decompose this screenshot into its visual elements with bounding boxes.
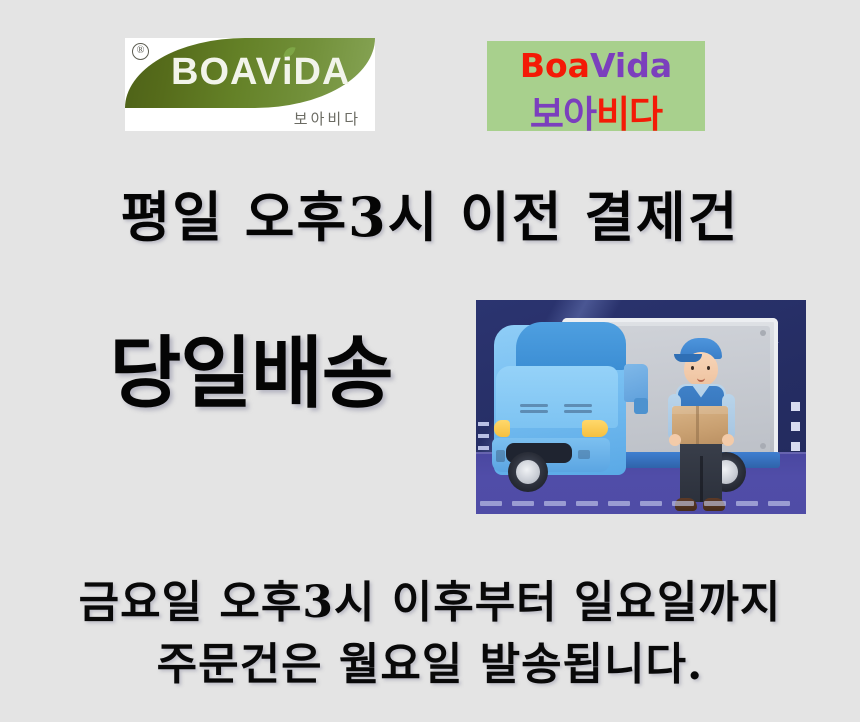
courier-figure (666, 338, 736, 514)
logo-row: ® BOAViDA 보아비다 BoaVida 보아비다 (0, 0, 860, 150)
footer-line-2: 주문건은 월요일 발송됩니다. (0, 634, 860, 696)
delivery-truck-courier-illustration: ✦ (476, 300, 806, 514)
latin-vida: Vida (590, 46, 672, 85)
road-dash (736, 501, 758, 506)
korean-boa: 보아 (530, 93, 596, 131)
parcel-tape (696, 406, 699, 444)
road-dash (576, 501, 598, 506)
courier-leg-split (700, 456, 703, 502)
courier-eye-left (691, 366, 694, 370)
truck-hood (496, 366, 618, 428)
truck-side-vent (496, 450, 505, 462)
road-dash (608, 501, 630, 506)
road-dash (672, 501, 694, 506)
boavida-korean-wordmark-2: 보아비다 (487, 84, 705, 131)
truck-side-window (624, 364, 648, 402)
truck-side-mirror (634, 398, 648, 414)
boavida-green-box-logo: BoaVida 보아비다 (487, 41, 705, 131)
footer-line-1: 금요일 오후3시 이후부터 일요일까지 (0, 572, 860, 634)
headline-text: 평일 오후3시 이전 결제건 (0, 180, 860, 254)
wordmark-prefix: BOAV (171, 51, 282, 93)
backdrop-square-icon (791, 422, 800, 431)
road-dash (768, 501, 790, 506)
backdrop-bar-icon (478, 422, 489, 426)
footer-text: 금요일 오후3시 이후부터 일요일까지 주문건은 월요일 발송됩니다. (0, 572, 860, 696)
backdrop-bar-icon (478, 434, 489, 438)
truck-headlight-right (582, 420, 608, 437)
boavida-korean-wordmark: 보아비다 (294, 108, 361, 129)
road-dash (544, 501, 566, 506)
courier-cap-brim (674, 354, 702, 362)
backdrop-square-icon (791, 442, 800, 451)
truck-vent-line (564, 410, 592, 413)
latin-boa: Boa (520, 46, 590, 85)
road-dash (480, 501, 502, 506)
boavida-latin-wordmark: BoaVida (487, 46, 705, 85)
big-title-text: 당일배송 (46, 322, 456, 426)
truck-headlight-left (494, 420, 510, 437)
courier-eye-right (707, 366, 710, 370)
wordmark-i-with-leaf: i (282, 48, 294, 96)
road-dash (512, 501, 534, 506)
parcel-lid (672, 406, 728, 414)
trailer-bolt-icon (760, 330, 766, 336)
wordmark-suffix: DA (294, 51, 351, 93)
truck-side-vent (578, 450, 590, 459)
registered-trademark-icon: ® (132, 43, 149, 60)
boavida-leaf-logo: ® BOAViDA 보아비다 (125, 38, 375, 131)
road-dash (704, 501, 726, 506)
courier-hand-left (669, 434, 681, 446)
courier-hand-right (722, 434, 734, 446)
promotional-banner: ® BOAViDA 보아비다 BoaVida 보아비다 평일 오후3시 이전 결… (0, 0, 860, 722)
backdrop-bar-icon (478, 446, 489, 450)
backdrop-square-icon (791, 402, 800, 411)
korean-vida: 비다 (596, 93, 662, 131)
truck-vent-line (564, 404, 592, 407)
road-dash (640, 501, 662, 506)
truck-front-wheel (508, 452, 548, 492)
boavida-wordmark: BOAViDA (171, 48, 350, 96)
truck-roof-spoiler (516, 322, 626, 370)
truck-vent-line (520, 404, 548, 407)
truck-vent-line (520, 410, 548, 413)
trailer-bolt-icon (760, 443, 766, 449)
